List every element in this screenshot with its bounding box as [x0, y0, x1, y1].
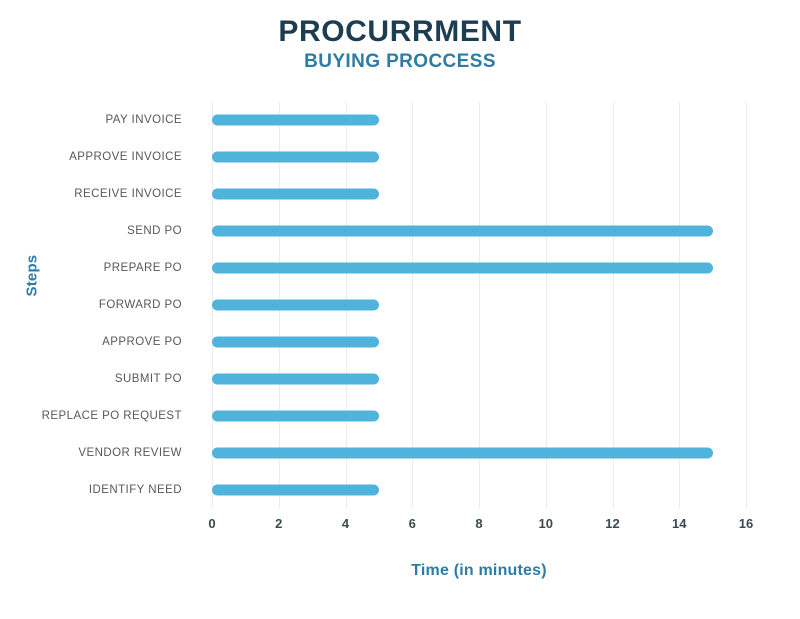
- y-axis-label-replace-po-request: REPLACE PO REQUEST: [42, 397, 182, 434]
- y-axis-label-vendor-review: VENDOR REVIEW: [78, 434, 182, 471]
- x-axis-tick-16: 16: [739, 516, 753, 531]
- bar-row: [212, 102, 746, 139]
- bar-receive-invoice[interactable]: [212, 189, 379, 200]
- bar-identify-need[interactable]: [212, 484, 379, 495]
- bar-row: [212, 287, 746, 324]
- bar-submit-po[interactable]: [212, 373, 379, 384]
- title-block: PROCURRMENT BUYING PROCCESS: [0, 16, 800, 72]
- gridline-16: [746, 102, 747, 508]
- y-axis-label-approve-po: APPROVE PO: [102, 323, 182, 360]
- bars-layer: [212, 102, 746, 508]
- bar-replace-po-request[interactable]: [212, 410, 379, 421]
- x-axis-title: Time (in minutes): [212, 562, 746, 580]
- y-axis-category-labels: PAY INVOICEAPPROVE INVOICERECEIVE INVOIC…: [0, 102, 200, 508]
- y-axis-label-send-po: SEND PO: [127, 213, 182, 250]
- bar-row: [212, 471, 746, 508]
- x-axis-tick-4: 4: [342, 516, 349, 531]
- bar-send-po[interactable]: [212, 226, 713, 237]
- bar-approve-po[interactable]: [212, 336, 379, 347]
- plot-area: [212, 102, 746, 508]
- bar-row: [212, 323, 746, 360]
- x-axis-tick-0: 0: [208, 516, 215, 531]
- bar-prepare-po[interactable]: [212, 263, 713, 274]
- bar-forward-po[interactable]: [212, 299, 379, 310]
- bar-pay-invoice[interactable]: [212, 115, 379, 126]
- x-axis-tick-12: 12: [605, 516, 619, 531]
- bar-row: [212, 139, 746, 176]
- y-axis-label-pay-invoice: PAY INVOICE: [105, 102, 182, 139]
- x-axis-tick-2: 2: [275, 516, 282, 531]
- x-axis-tick-8: 8: [475, 516, 482, 531]
- y-axis-label-receive-invoice: RECEIVE INVOICE: [74, 176, 182, 213]
- bar-vendor-review[interactable]: [212, 447, 713, 458]
- page-title: PROCURRMENT: [0, 16, 800, 48]
- y-axis-label-identify-need: IDENTIFY NEED: [89, 471, 182, 508]
- x-axis-tick-6: 6: [409, 516, 416, 531]
- bar-row: [212, 397, 746, 434]
- y-axis-label-submit-po: SUBMIT PO: [115, 360, 182, 397]
- y-axis-label-forward-po: FORWARD PO: [99, 287, 182, 324]
- x-axis-tick-14: 14: [672, 516, 686, 531]
- bar-row: [212, 213, 746, 250]
- bar-row: [212, 434, 746, 471]
- y-axis-label-prepare-po: PREPARE PO: [104, 250, 182, 287]
- bar-approve-invoice[interactable]: [212, 152, 379, 163]
- bar-row: [212, 250, 746, 287]
- x-axis-tick-labels: 0246810121416: [212, 516, 746, 538]
- bar-row: [212, 176, 746, 213]
- chart-container: PROCURRMENT BUYING PROCCESS Steps PAY IN…: [0, 0, 800, 619]
- x-axis-tick-10: 10: [539, 516, 553, 531]
- bar-row: [212, 360, 746, 397]
- y-axis-label-approve-invoice: APPROVE INVOICE: [69, 139, 182, 176]
- page-subtitle: BUYING PROCCESS: [0, 52, 800, 73]
